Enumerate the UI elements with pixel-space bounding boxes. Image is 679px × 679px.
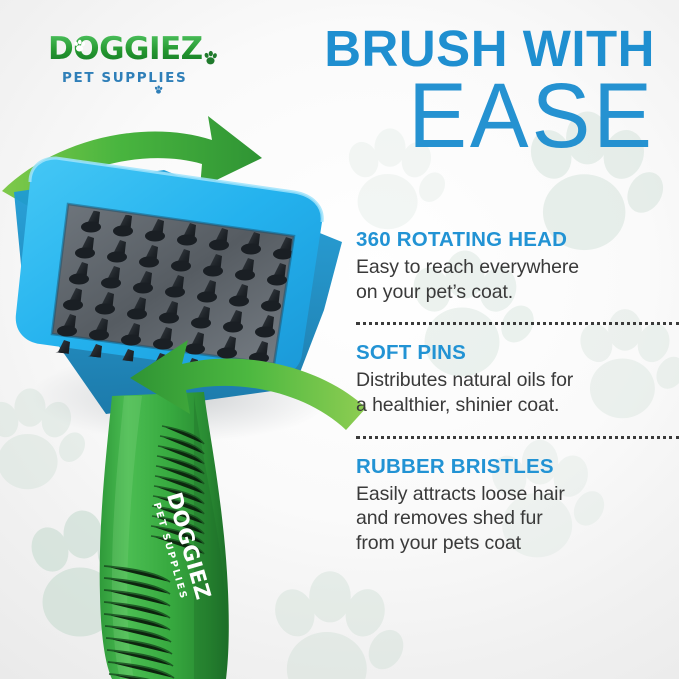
feature-body-line: Easily attracts loose hair	[356, 482, 664, 507]
feature-body-line: Easy to reach everywhere	[356, 255, 664, 280]
product-image-brush: DOGGIEZ PET SUPPLIES	[0, 96, 366, 679]
feature-body-line: Distributes natural oils for	[356, 368, 664, 393]
feature-title: RUBBER BRISTLES	[356, 455, 664, 479]
logo-tagline-wrap: PET SUPPLIES	[62, 70, 187, 86]
brush-handle: DOGGIEZ PET SUPPLIES	[100, 392, 229, 679]
feature-item: SOFT PINS Distributes natural oils for a…	[356, 341, 664, 417]
dotted-divider	[356, 322, 679, 325]
paw-icon	[203, 50, 218, 65]
product-infographic: DOGGIEZ PET SUPPLIES BRUSH WITH EASE	[0, 0, 679, 679]
paw-watermark	[8, 500, 158, 650]
headline-line-2: EASE	[275, 72, 655, 159]
svg-text:PET SUPPLIES: PET SUPPLIES	[151, 501, 189, 601]
feature-body: Distributes natural oils for a healthier…	[356, 368, 664, 418]
paw-icon	[154, 82, 163, 91]
feature-title: 360 ROTATING HEAD	[356, 228, 664, 252]
feature-body-line: a healthier, shinier coat.	[356, 393, 664, 418]
paw-watermark	[0, 380, 90, 500]
paw-watermark	[250, 560, 410, 679]
feature-body: Easy to reach everywhere on your pet’s c…	[356, 255, 664, 305]
rotation-arrow-bottom	[130, 340, 366, 430]
logo-wordmark: DOGGIEZ	[48, 34, 203, 65]
handle-logo: DOGGIEZ PET SUPPLIES	[149, 490, 215, 607]
logo-wordmark-wrap: DOGGIEZ	[48, 34, 203, 65]
headline: BRUSH WITH EASE	[275, 24, 655, 156]
feature-body-line: from your pets coat	[356, 531, 664, 556]
brush-pins	[51, 210, 293, 390]
feature-body-line: on your pet’s coat.	[356, 280, 664, 305]
feature-title: SOFT PINS	[356, 341, 664, 365]
svg-text:DOGGIEZ: DOGGIEZ	[162, 490, 216, 603]
feature-item: 360 ROTATING HEAD Easy to reach everywhe…	[356, 228, 664, 304]
logo-tagline: PET SUPPLIES	[62, 70, 187, 86]
brush-head	[14, 158, 342, 414]
feature-list: 360 ROTATING HEAD Easy to reach everywhe…	[356, 228, 664, 556]
brand-logo: DOGGIEZ PET SUPPLIES	[48, 34, 238, 87]
feature-item: RUBBER BRISTLES Easily attracts loose ha…	[356, 455, 664, 556]
dotted-divider	[356, 436, 679, 439]
feature-body-line: and removes shed fur	[356, 506, 664, 531]
rotation-arrow-top	[2, 116, 262, 206]
feature-body: Easily attracts loose hair and removes s…	[356, 482, 664, 557]
